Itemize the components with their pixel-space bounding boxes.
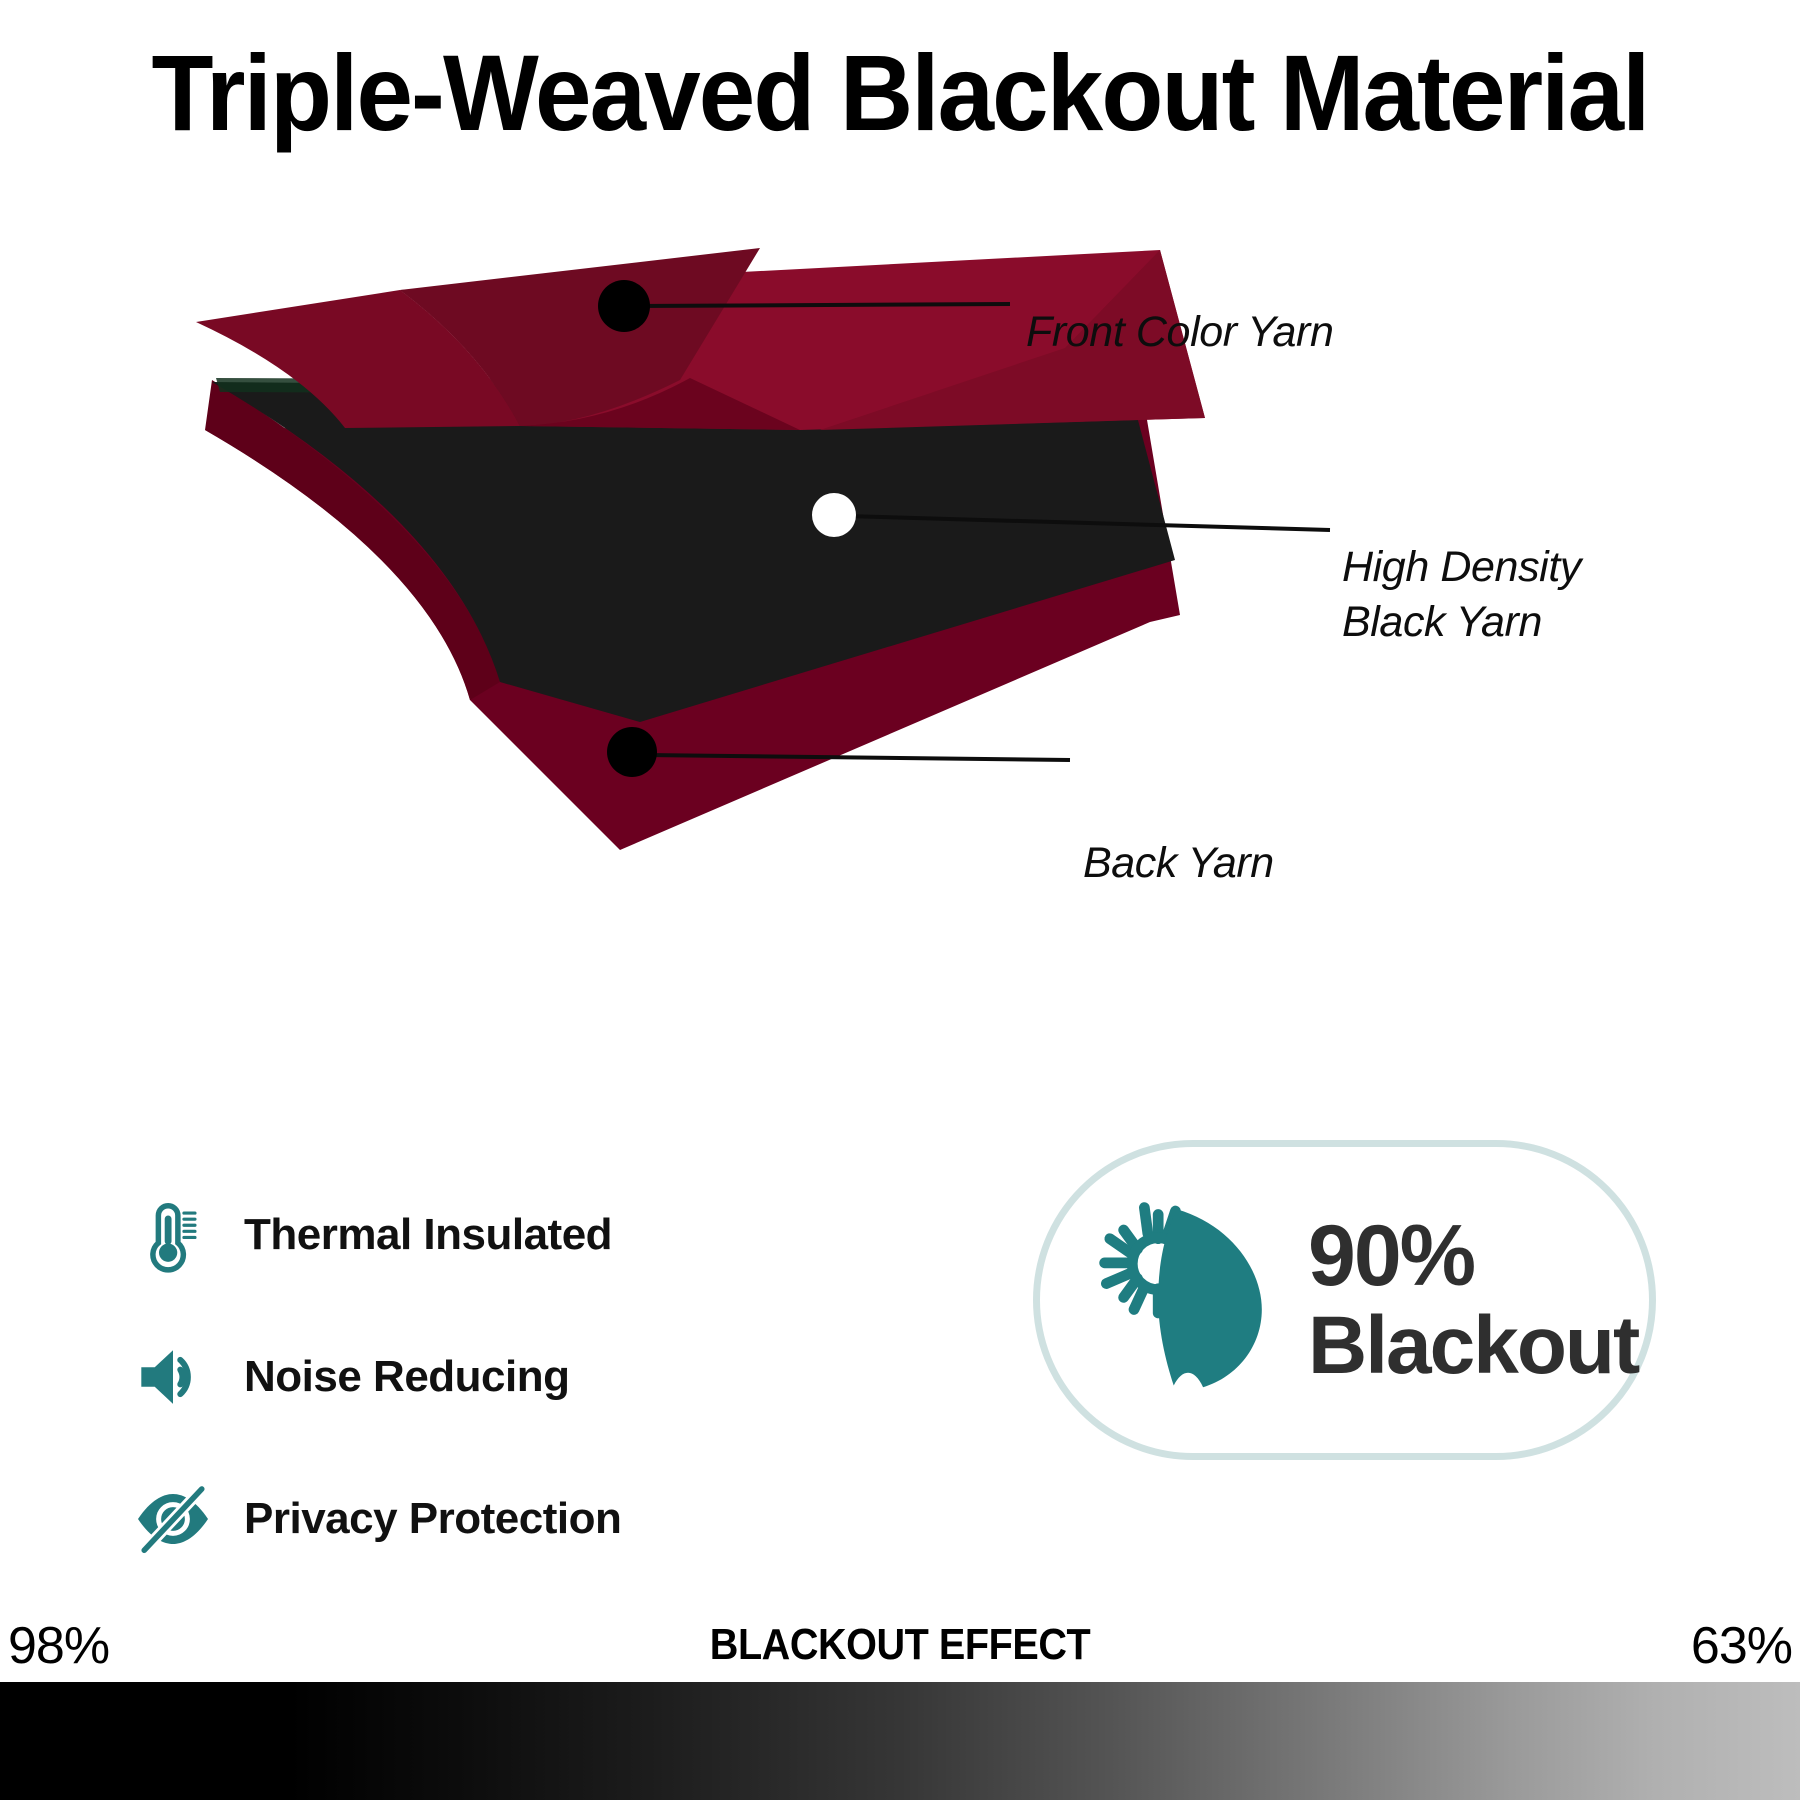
marker-front-color-yarn (598, 280, 650, 332)
blackout-gradient-bar (0, 1682, 1800, 1800)
eye-slash-icon (130, 1476, 216, 1562)
feature-label-noise-reducing: Noise Reducing (244, 1353, 570, 1401)
scale-label-row: 98% BLACKOUT EFFECT 63% (0, 1616, 1800, 1682)
blackout-effect-scale: 98% BLACKOUT EFFECT 63% (0, 1616, 1800, 1800)
feature-label-thermal-insulated: Thermal Insulated (244, 1211, 612, 1259)
blackout-badge: 90% Blackout (1033, 1140, 1656, 1460)
scale-title: BLACKOUT EFFECT (90, 1618, 1710, 1672)
feature-item-privacy-protection: Privacy Protection (130, 1469, 770, 1569)
callout-label-back-yarn: Back Yarn (1083, 836, 1274, 891)
badge-percent-value: 90% (1308, 1210, 1474, 1302)
feature-item-thermal-insulated: Thermal Insulated (130, 1185, 770, 1285)
thermometer-icon (130, 1192, 216, 1278)
badge-text-group: 90% Blackout (1308, 1210, 1638, 1390)
callout-label-high-density-black-yarn: High Density Black Yarn (1342, 540, 1581, 650)
badge-word-label: Blackout (1308, 1302, 1638, 1390)
callout-label-front-color-yarn: Front Color Yarn (1026, 305, 1333, 360)
feature-label-privacy-protection: Privacy Protection (244, 1495, 621, 1543)
leader-line-front-color-yarn (636, 304, 1010, 306)
marker-high-density (812, 493, 856, 537)
scale-right-value: 63% (1691, 1616, 1792, 1676)
page-title: Triple-Weaved Blackout Material (54, 34, 1746, 152)
sun-behind-curtain-icon (1096, 1200, 1286, 1400)
feature-list: Thermal Insulated Noise Reducing Privacy… (130, 1185, 770, 1611)
speaker-icon (130, 1334, 216, 1420)
marker-back-yarn (607, 727, 657, 777)
feature-item-noise-reducing: Noise Reducing (130, 1327, 770, 1427)
